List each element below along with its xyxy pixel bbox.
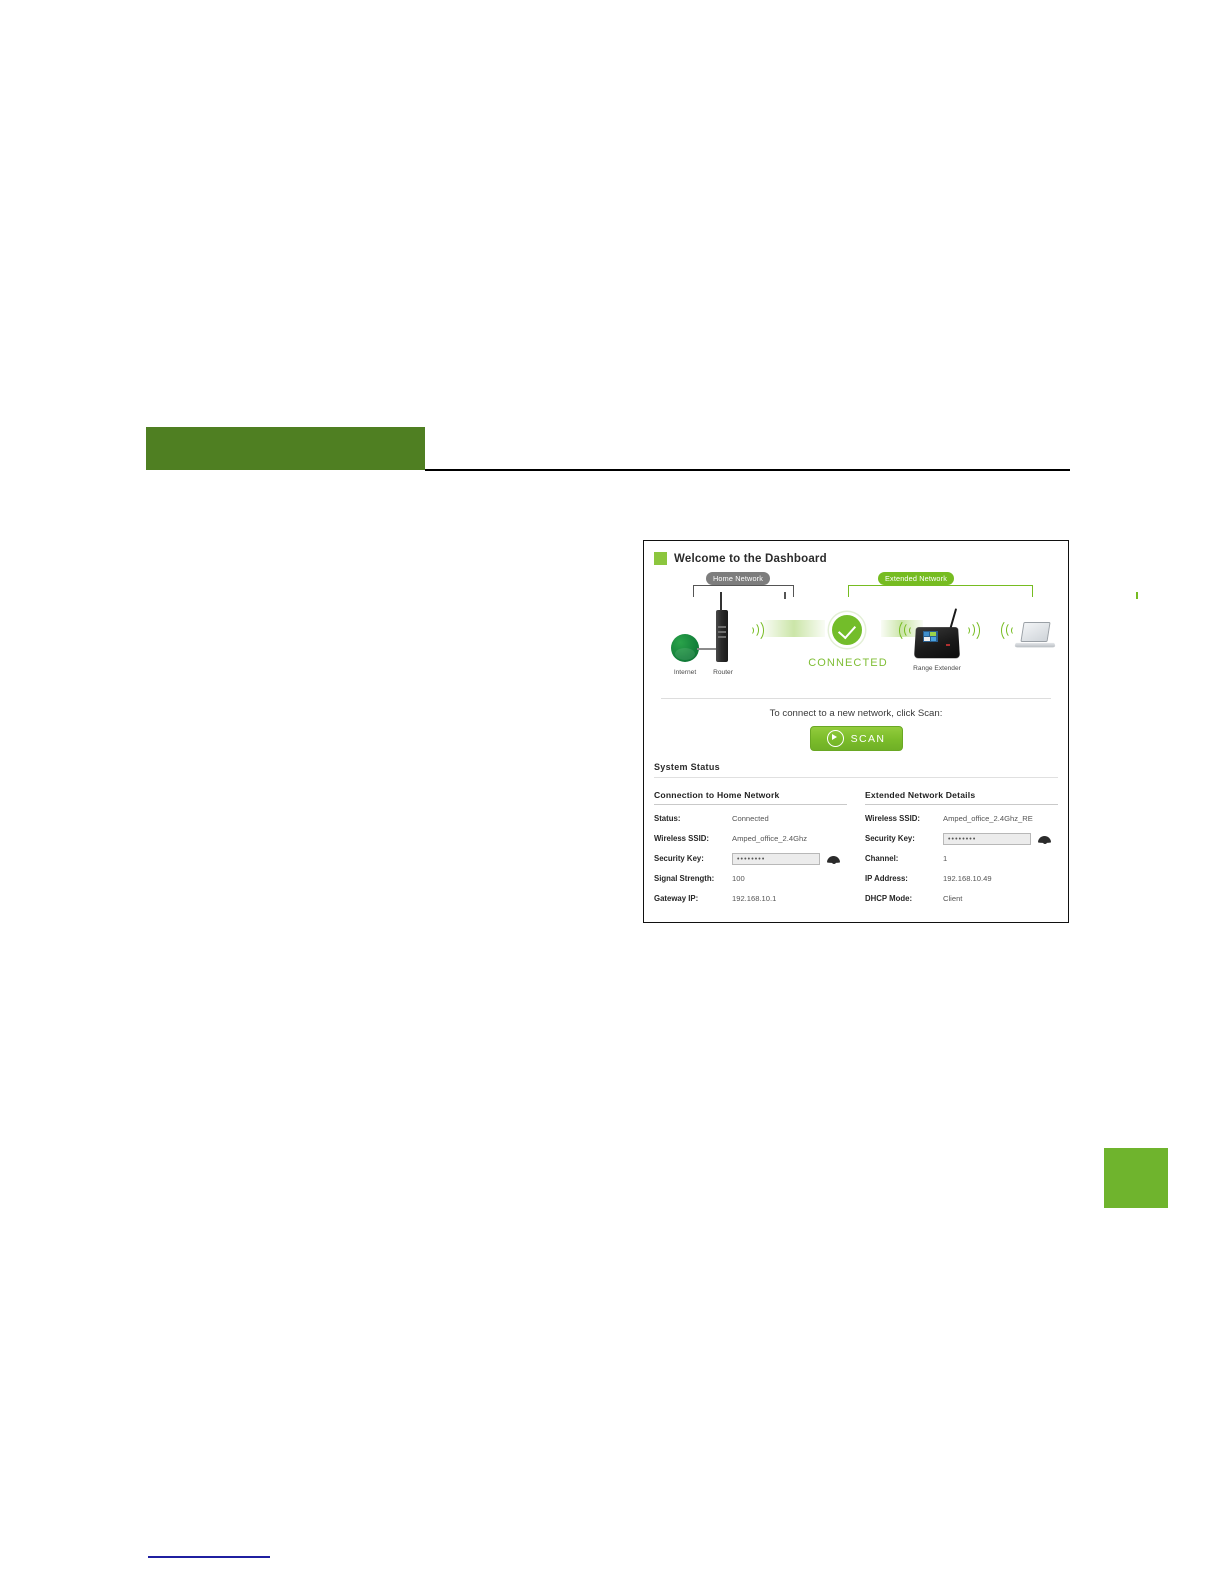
play-circle-icon — [827, 730, 844, 747]
wifi-arcs-extender-out-icon — [963, 617, 981, 641]
extended-network-column-heading: Extended Network Details — [865, 790, 1058, 805]
router-caption: Router — [699, 669, 747, 676]
row-label: Wireless SSID: — [865, 814, 943, 823]
system-status-divider — [654, 777, 1058, 778]
home-network-column-heading: Connection to Home Network — [654, 790, 847, 805]
row-label: Security Key: — [865, 834, 943, 843]
gateway-ip-value: 192.168.10.1 — [732, 894, 776, 903]
scan-button[interactable]: SCAN — [810, 726, 903, 751]
panel-title-row: Welcome to the Dashboard — [654, 552, 1068, 565]
row-label: Security Key: — [654, 854, 732, 863]
extended-security-key-field[interactable]: •••••••• — [943, 833, 1031, 845]
diagram-divider — [661, 698, 1051, 699]
channel-value: 1 — [943, 854, 947, 863]
network-diagram: Home Network Extended Network CONNECTED — [653, 572, 1059, 694]
table-row: Wireless SSID: Amped_office_2.4Ghz_RE — [865, 812, 1058, 825]
table-row: Security Key: •••••••• — [865, 832, 1058, 845]
router-icon — [716, 610, 728, 662]
extended-network-column: Extended Network Details Wireless SSID: … — [865, 790, 1058, 905]
table-row: IP Address: 192.168.10.49 — [865, 872, 1058, 885]
router-led — [718, 636, 726, 638]
extended-network-badge: Extended Network — [878, 572, 954, 585]
row-label: Wireless SSID: — [654, 834, 732, 843]
row-label: Signal Strength: — [654, 874, 732, 883]
section-header-band — [146, 427, 425, 470]
system-status-heading: System Status — [654, 762, 1068, 772]
extender-screen-tile — [930, 632, 936, 636]
extended-bracket-tick — [1136, 592, 1138, 599]
extender-screen-tile — [924, 637, 930, 641]
wifi-arcs-router-icon — [747, 617, 765, 641]
extended-network-bracket — [848, 585, 1033, 597]
home-security-key-field[interactable]: •••••••• — [732, 853, 820, 865]
laptop-base — [1014, 643, 1056, 647]
row-label: DHCP Mode: — [865, 894, 943, 903]
laptop-icon — [1015, 622, 1055, 654]
internet-globe-icon — [671, 634, 699, 662]
footnote-separator-rule — [148, 1556, 270, 1558]
connection-status-label: CONNECTED — [803, 657, 893, 669]
table-row: Security Key: •••••••• — [654, 852, 847, 865]
connected-check-icon — [829, 612, 865, 648]
wifi-arcs-laptop-icon — [998, 617, 1016, 641]
eye-icon[interactable] — [827, 854, 840, 864]
extender-screen-tile — [931, 637, 936, 641]
home-network-column: Connection to Home Network Status: Conne… — [654, 790, 847, 905]
scan-button-wrap: SCAN — [644, 726, 1068, 752]
table-row: Signal Strength: 100 — [654, 872, 847, 885]
extender-power-led — [946, 644, 950, 646]
wifi-arcs-extender-in-icon — [896, 617, 914, 641]
table-row: Status: Connected — [654, 812, 847, 825]
status-value: Connected — [732, 814, 769, 823]
scan-button-label: SCAN — [851, 733, 886, 745]
table-row: Channel: 1 — [865, 852, 1058, 865]
home-ssid-value: Amped_office_2.4Ghz — [732, 834, 807, 843]
router-led — [718, 626, 726, 628]
range-extender-caption: Range Extender — [903, 665, 971, 672]
row-label: Channel: — [865, 854, 943, 863]
scan-hint-text: To connect to a new network, click Scan: — [644, 708, 1068, 719]
green-square-icon — [654, 552, 667, 565]
ip-address-value: 192.168.10.49 — [943, 874, 992, 883]
table-row: Gateway IP: 192.168.10.1 — [654, 892, 847, 905]
row-label: IP Address: — [865, 874, 943, 883]
table-row: DHCP Mode: Client — [865, 892, 1058, 905]
dhcp-mode-value: Client — [943, 894, 962, 903]
row-label: Gateway IP: — [654, 894, 732, 903]
eye-icon[interactable] — [1038, 834, 1051, 844]
extended-ssid-value: Amped_office_2.4Ghz_RE — [943, 814, 1033, 823]
header-horizontal-rule — [425, 469, 1070, 471]
signal-beam-left — [763, 620, 825, 637]
signal-strength-value: 100 — [732, 874, 745, 883]
home-network-bracket — [693, 585, 794, 597]
row-label: Status: — [654, 814, 732, 823]
page-title: Welcome to the Dashboard — [674, 553, 827, 565]
extender-screen-tile — [924, 632, 929, 636]
home-network-badge: Home Network — [706, 572, 770, 585]
table-row: Wireless SSID: Amped_office_2.4Ghz — [654, 832, 847, 845]
laptop-screen — [1020, 622, 1050, 642]
page-edge-marker — [1104, 1148, 1168, 1208]
status-columns: Connection to Home Network Status: Conne… — [654, 790, 1058, 905]
home-bracket-tick — [784, 592, 786, 599]
range-extender-icon — [915, 620, 959, 658]
dashboard-panel: Welcome to the Dashboard Home Network Ex… — [643, 540, 1069, 923]
router-led — [718, 631, 726, 633]
